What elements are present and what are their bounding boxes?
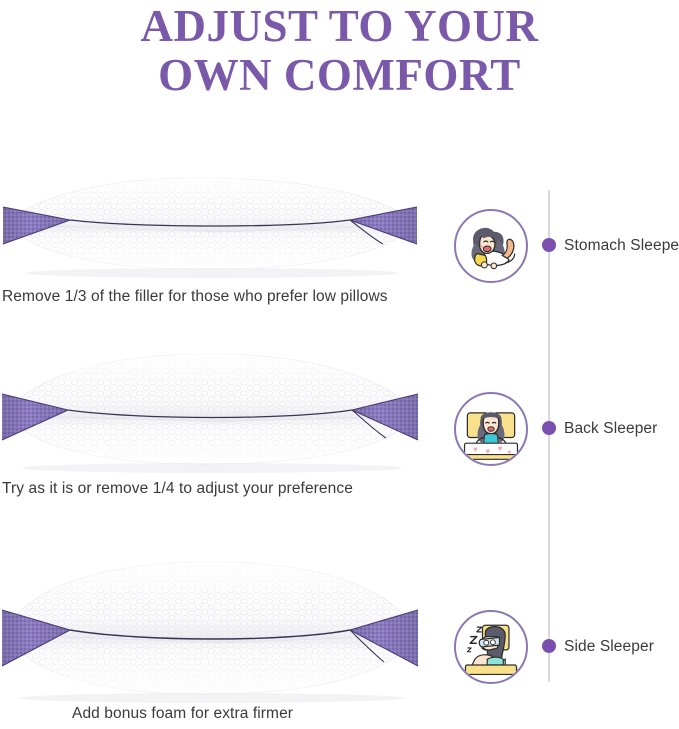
person-lying-on-back-in-bed-icon	[454, 392, 528, 466]
adjust-comfort-infographic: ADJUST TO YOUR OWN COMFORT Remove 1/3 o	[0, 0, 679, 729]
pillow-caption-low: Remove 1/3 of the filler for those who p…	[2, 288, 388, 306]
high-loft-pillow-illustration	[0, 560, 420, 712]
pillow-caption-high: Add bonus foam for extra firmer	[72, 705, 293, 723]
pillow-section-medium: Try as it is or remove 1/4 to adjust you…	[0, 352, 420, 487]
person-lying-on-stomach-icon	[454, 209, 528, 283]
page-title: ADJUST TO YOUR OWN COMFORT	[0, 2, 679, 100]
timeline-dot-back	[542, 421, 556, 435]
timeline-dot-stomach	[542, 238, 556, 252]
pillow-section-high: Add bonus foam for extra firmer	[0, 560, 420, 717]
low-loft-pillow-illustration	[0, 176, 420, 288]
medium-loft-pillow-illustration	[0, 352, 420, 482]
pillow-section-low: Remove 1/3 of the filler for those who p…	[0, 176, 420, 293]
page-title-line-1: ADJUST TO YOUR	[0, 2, 679, 50]
sleeper-label-back: Back Sleeper	[564, 420, 657, 438]
timeline-rail	[548, 190, 550, 682]
sleeper-label-stomach: Stomach Sleeper	[564, 237, 679, 255]
page-title-line-2: OWN COMFORT	[0, 50, 679, 100]
timeline-dot-side	[542, 639, 556, 653]
sleeper-label-side: Side Sleeper	[564, 638, 654, 656]
pillow-caption-medium: Try as it is or remove 1/4 to adjust you…	[2, 480, 353, 498]
person-sleeping-on-side-with-eye-mask-icon	[454, 610, 528, 684]
